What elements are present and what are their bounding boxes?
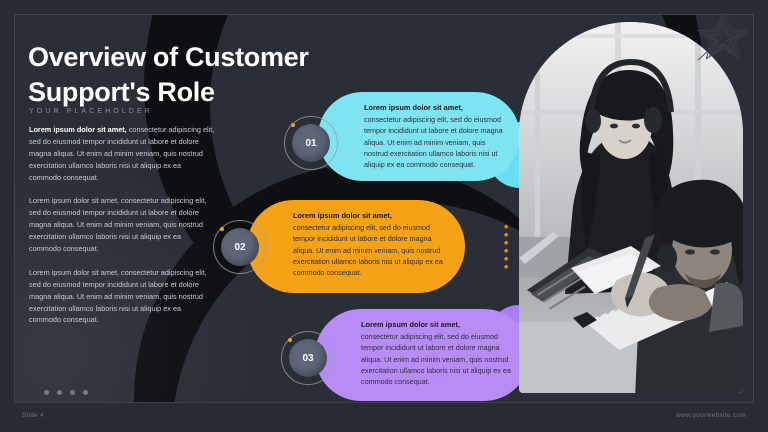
feature-card-03-body: consectetur adipiscing elit, sed do eius…	[361, 331, 514, 387]
star-icon-6: ★	[503, 264, 509, 271]
pager-dot-2[interactable]	[57, 390, 62, 395]
step-badge-02-dot-icon	[220, 227, 224, 231]
support-team-photo	[519, 22, 743, 393]
feature-card-02-heading: Lorem ipsum dolor sit amet,	[293, 210, 449, 221]
step-badge-01-number: 01	[292, 124, 330, 162]
body-text-column: Lorem ipsum dolor sit amet, consectetur …	[29, 124, 215, 338]
pager-dot-3[interactable]	[70, 390, 75, 395]
feature-card-02[interactable]: Lorem ipsum dolor sit amet, consectetur …	[247, 200, 465, 293]
page-title: Overview of Customer Support's Role	[28, 40, 388, 109]
feature-card-03[interactable]: Lorem ipsum dolor sit amet, consectetur …	[315, 309, 530, 401]
website-url: www.yourwebsite.com	[676, 412, 746, 419]
step-badge-02-number: 02	[221, 228, 259, 266]
step-badge-01[interactable]: 01	[284, 116, 338, 170]
step-badge-03[interactable]: 03	[281, 331, 335, 385]
star-icon-2: ★	[503, 232, 509, 239]
feature-card-02-body: consectetur adipiscing elit, sed do eius…	[293, 222, 449, 278]
pager-dots[interactable]	[44, 390, 88, 395]
pager-dot-1[interactable]	[44, 390, 49, 395]
body-paragraph-2: Lorem ipsum dolor sit amet, consectetur …	[29, 195, 215, 254]
star-rating-icons: ★ ★ ★ ★ ★ ★	[503, 224, 509, 271]
decorative-star-icon	[692, 8, 754, 73]
kicker-label: YOUR PLACEHOLDER	[29, 108, 153, 115]
body-paragraph-1-lead: Lorem ipsum dolor sit amet,	[29, 125, 127, 134]
star-icon-5: ★	[503, 256, 509, 263]
body-paragraph-3: Lorem ipsum dolor sit amet, consectetur …	[29, 267, 215, 326]
step-badge-03-dot-icon	[288, 338, 292, 342]
feature-card-01-body: consectetur adipiscing elit, sed do eius…	[364, 114, 504, 170]
slide-number: Slide 4	[22, 412, 44, 419]
pager-dot-4[interactable]	[83, 390, 88, 395]
star-icon-3: ★	[503, 240, 509, 247]
star-icon-4: ★	[503, 248, 509, 255]
step-badge-01-dot-icon	[291, 123, 295, 127]
body-paragraph-1: Lorem ipsum dolor sit amet, consectetur …	[29, 124, 215, 183]
step-badge-03-number: 03	[289, 339, 327, 377]
presentation-slide: Overview of Customer Support's Role YOUR…	[0, 0, 768, 432]
step-badge-02[interactable]: 02	[213, 220, 267, 274]
feature-card-03-heading: Lorem ipsum dolor sit amet,	[361, 319, 514, 330]
star-icon-1: ★	[503, 224, 509, 231]
